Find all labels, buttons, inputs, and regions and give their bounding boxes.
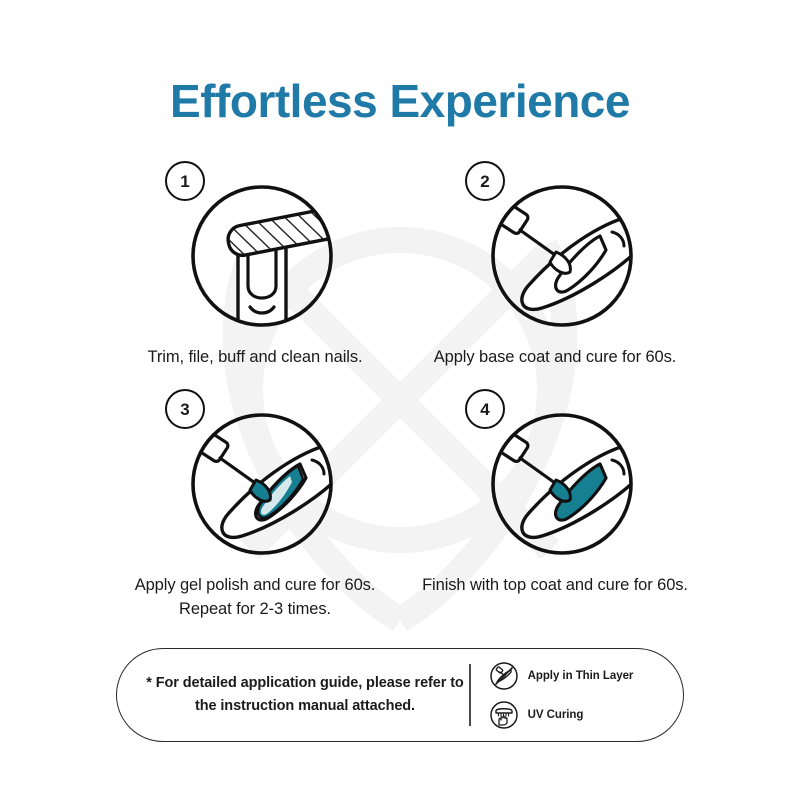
step-1-caption: Trim, file, buff and clean nails. — [110, 346, 400, 370]
footer-badge-thin-layer: Apply in Thin Layer — [489, 661, 683, 691]
brush-shape — [191, 427, 271, 501]
page-title: Effortless Experience — [0, 76, 800, 127]
steps-grid: 1 Trim, file, buff and clean nails. — [110, 168, 690, 624]
footer-badges: Apply in Thin Layer UV Curing — [471, 661, 683, 730]
footer-badge-thin-layer-label: Apply in Thin Layer — [528, 670, 634, 682]
footer-badge-uv-curing: UV Curing — [489, 700, 683, 730]
finger-shape — [522, 214, 640, 309]
step-1-badge: 1 — [165, 161, 205, 201]
step-2-figure: 2 — [470, 168, 640, 338]
step-2-badge: 2 — [465, 161, 505, 201]
brush-shape — [491, 199, 571, 273]
step-item-4: 4 Finish with top coat and cure for 60s. — [410, 396, 700, 624]
step-3-figure: 3 — [170, 396, 340, 566]
step-item-1: 1 Trim, file, buff and clean nails. — [110, 168, 400, 396]
step-1-figure: 1 — [170, 168, 340, 338]
footer-panel: * For detailed application guide, please… — [116, 648, 684, 742]
step-3-caption: Apply gel polish and cure for 60s. Repea… — [110, 574, 400, 622]
no-thick-layer-icon — [489, 661, 519, 691]
step-item-2: 2 Apply base coat and cure for 60s. — [410, 168, 700, 396]
step-3-badge: 3 — [165, 389, 205, 429]
brush-shape — [491, 427, 571, 501]
step-item-3: 3 Apply gel polish and cure for 60s. Rep… — [110, 396, 400, 624]
footer-note: * For detailed application guide, please… — [117, 672, 469, 718]
step-4-caption: Finish with top coat and cure for 60s. — [410, 574, 700, 598]
uv-lamp-hand-icon — [489, 700, 519, 730]
footer-badge-uv-curing-label: UV Curing — [528, 709, 584, 721]
infographic-page: Effortless Experience — [0, 0, 800, 800]
step-2-caption: Apply base coat and cure for 60s. — [410, 346, 700, 370]
step-4-figure: 4 — [470, 396, 640, 566]
step-4-badge: 4 — [465, 389, 505, 429]
